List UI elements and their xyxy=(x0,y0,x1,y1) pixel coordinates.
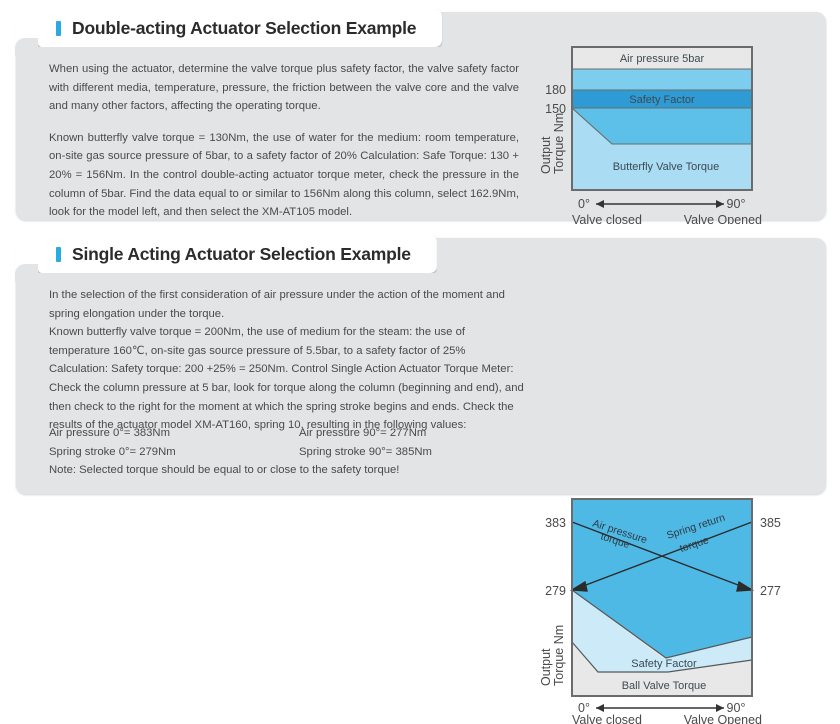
y-tick-180: 180 xyxy=(545,83,566,97)
band-label-safety-factor: Safety Factor xyxy=(631,658,697,670)
y-axis-label-output-torque: Output xyxy=(539,136,553,174)
value-air-pressure-0deg: Air pressure 0°= 383Nm xyxy=(49,424,299,443)
paragraph: Known butterfly valve torque = 200Nm, th… xyxy=(49,323,527,435)
x-caption-valve-opened: Valve Opened xyxy=(684,713,762,724)
value-air-pressure-90deg: Air pressure 90°= 277Nm xyxy=(299,424,519,443)
chart-single-acting-svg: Air pressure torque Spring return torque… xyxy=(516,490,840,724)
band-label-safety-factor: Safety Factor xyxy=(629,94,695,106)
band-label-butterfly-valve-torque: Butterfly Valve Torque xyxy=(613,161,720,173)
x-caption-valve-closed: Valve closed xyxy=(572,713,642,724)
section-title: Single Acting Actuator Selection Example xyxy=(72,244,411,265)
accent-bullet-icon xyxy=(56,21,61,36)
y-axis-label-output: Output xyxy=(539,648,553,686)
section-header-tab-double-acting: Double-acting Actuator Selection Example xyxy=(38,9,442,47)
value-spring-stroke-0deg: Spring stroke 0°= 279Nm xyxy=(49,443,299,462)
page-root: Double-acting Actuator Selection Example… xyxy=(0,0,840,508)
band-upper-blue xyxy=(572,69,752,90)
y-left-tick-279: 279 xyxy=(545,584,566,598)
section-body-double-acting: When using the actuator, determine the v… xyxy=(49,60,519,222)
band-label-air-pressure: Air pressure 5bar xyxy=(620,53,705,65)
paragraph: In the selection of the first considerat… xyxy=(49,286,527,323)
x-tick-0deg: 0° xyxy=(578,197,590,211)
x-axis-arrow xyxy=(596,704,724,712)
section-title: Double-acting Actuator Selection Example xyxy=(72,18,416,39)
y-axis-label-torque-nm: Torque Nm xyxy=(552,113,566,174)
chart-single-acting: Air pressure torque Spring return torque… xyxy=(516,490,840,724)
band-label-ball-valve-torque: Ball Valve Torque xyxy=(622,680,707,692)
y-left-tick-383: 383 xyxy=(545,516,566,530)
y-axis-label-torque-nm: Torque Nm xyxy=(552,625,566,686)
chart-double-acting: Air pressure 5bar Safety Factor Butterfl… xyxy=(516,34,840,224)
x-caption-valve-opened: Valve Opened xyxy=(684,213,762,224)
paragraph: When using the actuator, determine the v… xyxy=(49,60,519,116)
value-rows: Air pressure 0°= 383Nm Air pressure 90°=… xyxy=(49,424,519,480)
accent-bullet-icon xyxy=(56,247,61,262)
value-row: Air pressure 0°= 383Nm Air pressure 90°=… xyxy=(49,424,519,443)
value-row: Spring stroke 0°= 279Nm Spring stroke 90… xyxy=(49,443,519,462)
value-spring-stroke-90deg: Spring stroke 90°= 385Nm xyxy=(299,443,519,462)
x-tick-90deg: 90° xyxy=(727,197,746,211)
chart-double-acting-svg: Air pressure 5bar Safety Factor Butterfl… xyxy=(516,34,840,224)
section-panel-single-acting: Single Acting Actuator Selection Example… xyxy=(16,238,826,494)
section-body-single-acting: In the selection of the first considerat… xyxy=(49,286,527,435)
y-right-tick-277: 277 xyxy=(760,584,781,598)
section-panel-double-acting: Double-acting Actuator Selection Example… xyxy=(16,12,826,220)
x-axis-arrow xyxy=(596,200,724,208)
y-right-tick-385: 385 xyxy=(760,516,781,530)
paragraph: Known butterfly valve torque = 130Nm, th… xyxy=(49,129,519,222)
note-text: Note: Selected torque should be equal to… xyxy=(49,461,519,480)
section-header-tab-single-acting: Single Acting Actuator Selection Example xyxy=(38,235,437,273)
x-caption-valve-closed: Valve closed xyxy=(572,213,642,224)
